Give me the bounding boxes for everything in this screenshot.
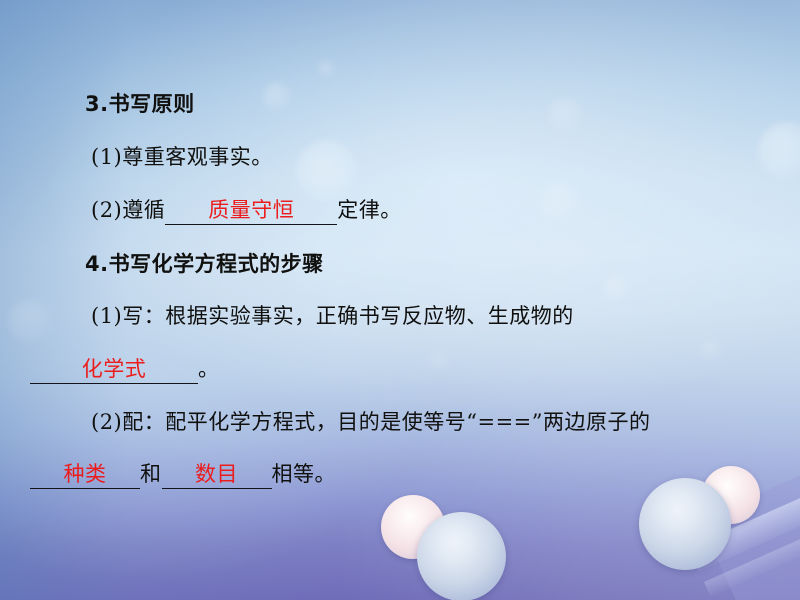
section-4-step-1-blank-line: 化学式。: [30, 353, 220, 384]
section-3-item-2: (2)遵循质量守恒定律。: [91, 194, 402, 225]
slide-canvas: 3.书写原则 (1)尊重客观事实。 (2)遵循质量守恒定律。 4.书写化学方程式…: [0, 0, 800, 600]
section-4-step-1-tail: 。: [198, 357, 220, 381]
section-4-step-1-text: (1)写：根据实验事实，正确书写反应物、生成物的: [91, 300, 574, 330]
section-4-blank-number: 数目: [162, 458, 272, 489]
section-3-heading: 3.书写原则: [85, 88, 195, 118]
section-4-step-2-text: (2)配：配平化学方程式，目的是使等号“===”两边原子的: [91, 406, 651, 436]
section-4-step-2-blank-line: 种类和数目相等。: [30, 458, 336, 489]
slide-text-content: 3.书写原则 (1)尊重客观事实。 (2)遵循质量守恒定律。 4.书写化学方程式…: [0, 0, 800, 600]
section-4-heading: 4.书写化学方程式的步骤: [85, 248, 324, 278]
section-4-step-2-tail: 相等。: [272, 462, 337, 486]
section-4-blank-kind: 种类: [30, 458, 140, 489]
section-3-item-1: (1)尊重客观事实。: [91, 141, 273, 171]
section-4-blank-formula: 化学式: [30, 353, 198, 384]
section-4-step-2-mid: 和: [140, 462, 162, 486]
section-3-item-2-prefix: (2)遵循: [91, 198, 165, 222]
section-3-item-2-suffix: 定律。: [337, 198, 402, 222]
section-3-blank-conservation: 质量守恒: [165, 194, 337, 225]
